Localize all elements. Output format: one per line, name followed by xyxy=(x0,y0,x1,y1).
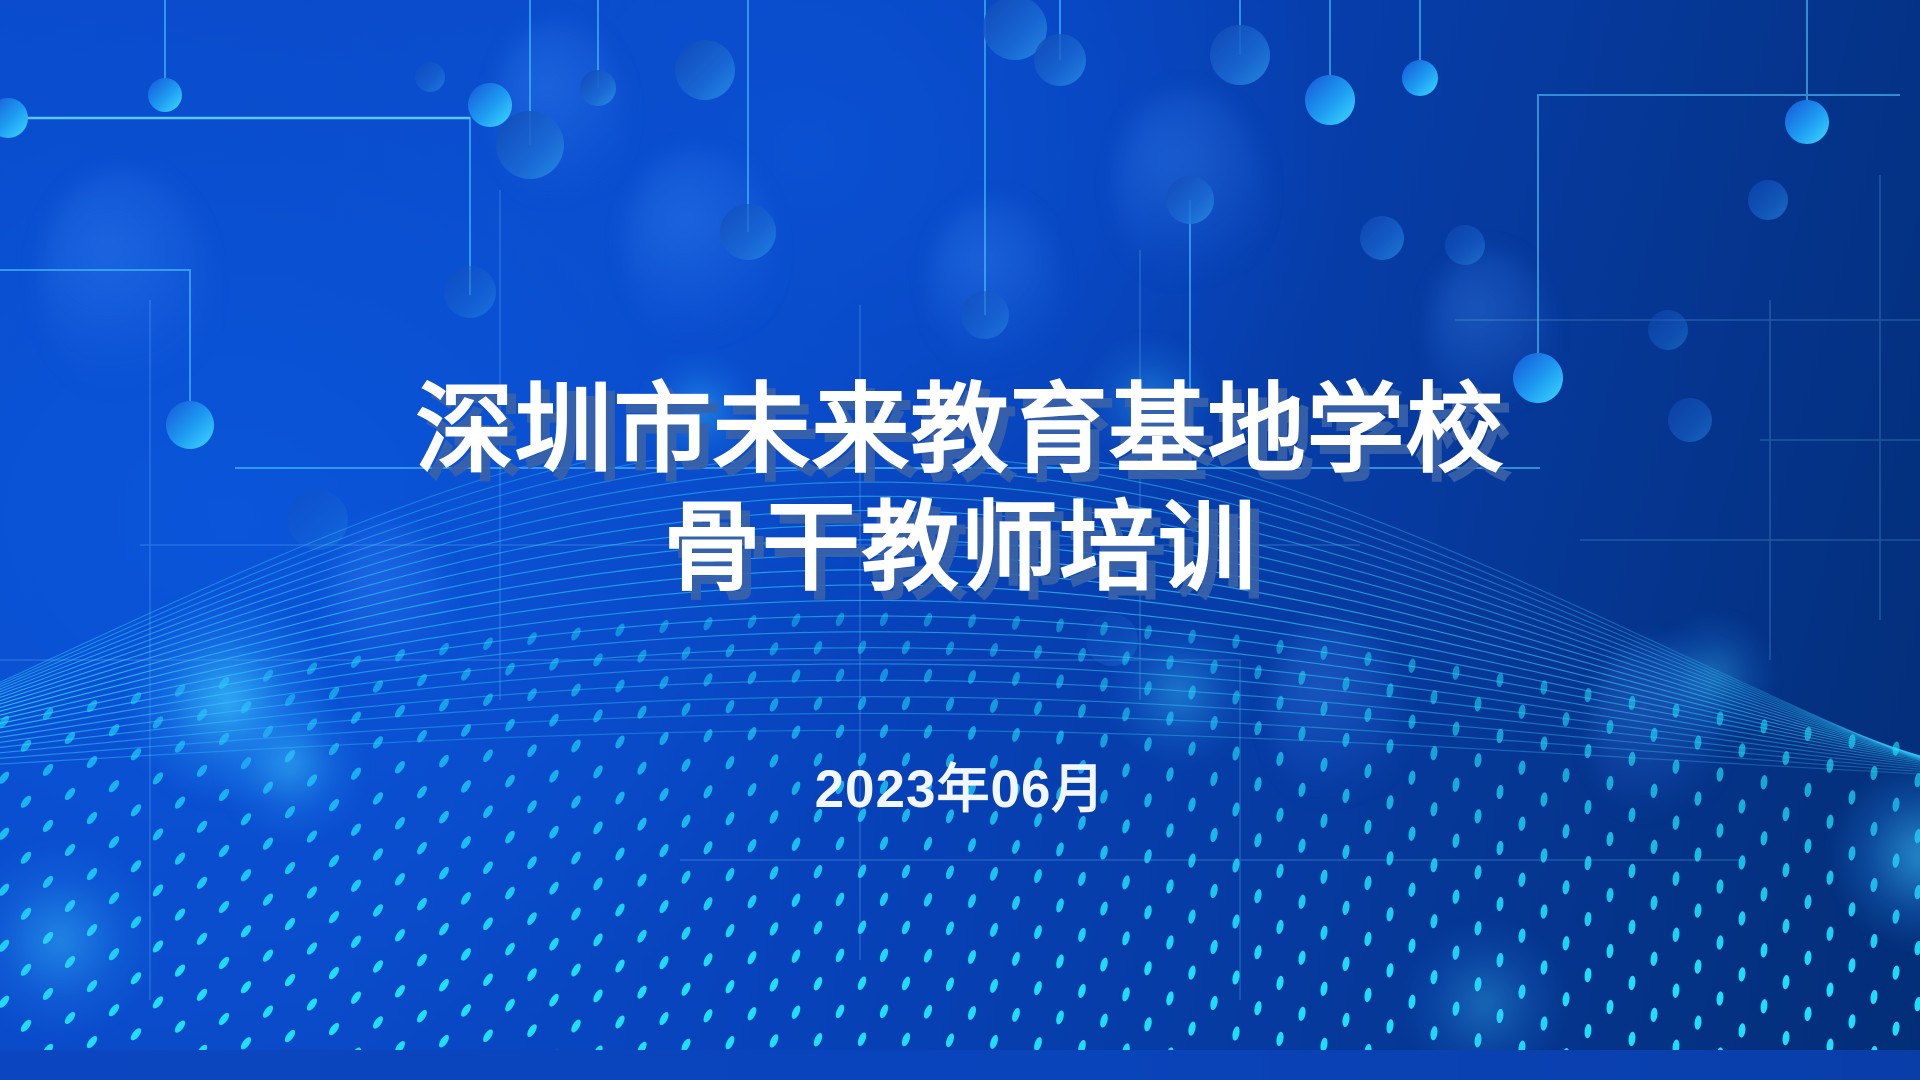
slide-date: 2023年06月 xyxy=(0,758,1920,822)
slide-content: 深圳市未来教育基地学校 骨干教师培训 2023年06月 xyxy=(0,0,1920,1080)
slide-title: 深圳市未来教育基地学校 骨干教师培训 xyxy=(0,370,1920,606)
title-line-1: 深圳市未来教育基地学校 xyxy=(0,370,1920,488)
cover-slide: 深圳市未来教育基地学校 骨干教师培训 2023年06月 xyxy=(0,0,1920,1080)
title-line-2: 骨干教师培训 xyxy=(0,488,1920,606)
